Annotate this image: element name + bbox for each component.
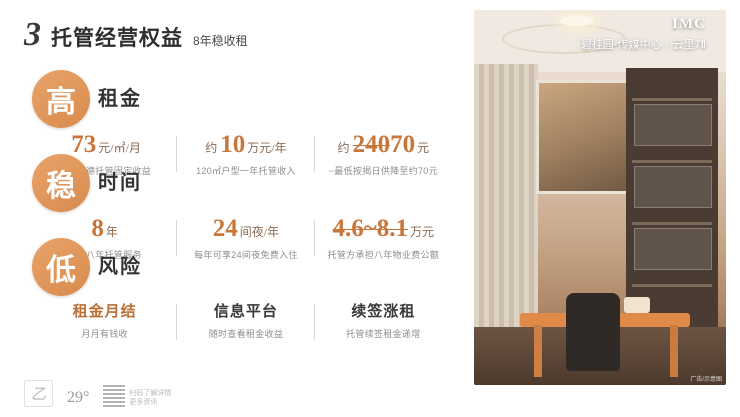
temperature-label: 29° [67,389,89,407]
cell-desc: 月月有钱收 [32,327,177,340]
shelf-board [632,222,712,225]
shelf-glass-panel [634,228,712,270]
page-subtitle: 8年稳收租 [193,32,248,49]
cell-unit: 年 [106,225,118,239]
benefit-block-rent: 高 租金 73元/㎡/月 莱克伯德托管固定收益 约10万元/年 120㎡户型一年… [0,70,470,154]
cell-unit: 间夜/年 [240,225,279,239]
interior-photo: IMC 碧桂园·传媒中心|云里7Ⅱ 广告/示意图 [474,10,726,385]
logo-name: 碧桂园·传媒中心|云里7Ⅱ [581,36,706,52]
footer-note-line1: 扫码了解详情 [129,390,171,397]
shelf-board [632,98,712,101]
shelf-glass-panel [634,166,712,208]
page-header: 3 托管经营权益 8年稳收租 [24,18,248,52]
badge-label-risk: 风险 [98,250,142,279]
footer-note-line2: 更多资讯 [129,399,157,406]
badge-high: 高 [32,70,90,128]
shelf-glass-panel [634,104,712,146]
qr-code-icon[interactable] [103,385,125,407]
shelf-board [632,160,712,163]
badge-low: 低 [32,238,90,296]
page-title: 托管经营权益 [51,22,183,52]
wall-art [536,80,638,194]
cell-title: 信息平台 [177,300,314,321]
signature-stamp: 乙 [24,380,53,407]
desk-leg [534,325,542,377]
benefit-block-risk: 低 风险 租金月结 月月有钱收 信息平台 随时查看租金收益 续签涨租 托管续签租… [0,238,470,322]
brand-logo: IMC 碧桂园·传媒中心|云里7Ⅱ [581,16,706,52]
logo-name-sub: 云里7Ⅱ [672,39,706,51]
benefit-columns-risk: 租金月结 月月有钱收 信息平台 随时查看租金收益 续签涨租 托管续签租金递增 [32,300,452,340]
benefits-list: 高 租金 73元/㎡/月 莱克伯德托管固定收益 约10万元/年 120㎡户型一年… [0,70,470,400]
cell-prefix: 约 [338,141,350,155]
badge-label-rent: 租金 [98,82,142,111]
footer-temperature-group: 29° [67,389,89,407]
footer-signature-group: 乙 [24,380,53,407]
footer: 乙 29° 扫码了解详情 更多资讯 [24,380,171,407]
section-number: 3 [24,18,41,52]
logo-mark: IMC [581,16,706,33]
photo-credit: 广告/示意图 [690,374,722,383]
cell-unit: 万元 [410,225,434,239]
footer-note: 扫码了解详情 更多资讯 [129,389,171,407]
desk-leg [670,325,678,377]
cell-unit: 万元/年 [247,141,286,155]
cell-unit: 元 [417,141,429,155]
footer-qr-group[interactable]: 扫码了解详情 更多资讯 [103,385,171,407]
cell-desc: 托管续签租金递增 [315,327,452,340]
shelf-board [632,284,712,287]
cell-title: 租金月结 [32,300,177,321]
cell-title: 续签涨租 [315,300,452,321]
logo-separator: | [666,39,669,51]
benefit-block-duration: 稳 时间 8年 稳定八年托管服务 24间夜/年 每年可享24间夜免费入住 4.6… [0,154,470,238]
desk-lamp [624,297,650,313]
chair [566,293,620,371]
cell-desc: 随时查看租金收益 [177,327,314,340]
badge-label-duration: 时间 [98,166,142,195]
cell-risk-1: 租金月结 月月有钱收 [32,300,177,340]
cell-unit: 元/㎡/月 [98,141,141,155]
logo-name-main: 碧桂园·传媒中心 [581,39,662,51]
cell-risk-2: 信息平台 随时查看租金收益 [177,300,314,340]
cell-risk-3: 续签涨租 托管续签租金递增 [315,300,452,340]
cell-prefix: 约 [205,141,217,155]
badge-stable: 稳 [32,154,90,212]
